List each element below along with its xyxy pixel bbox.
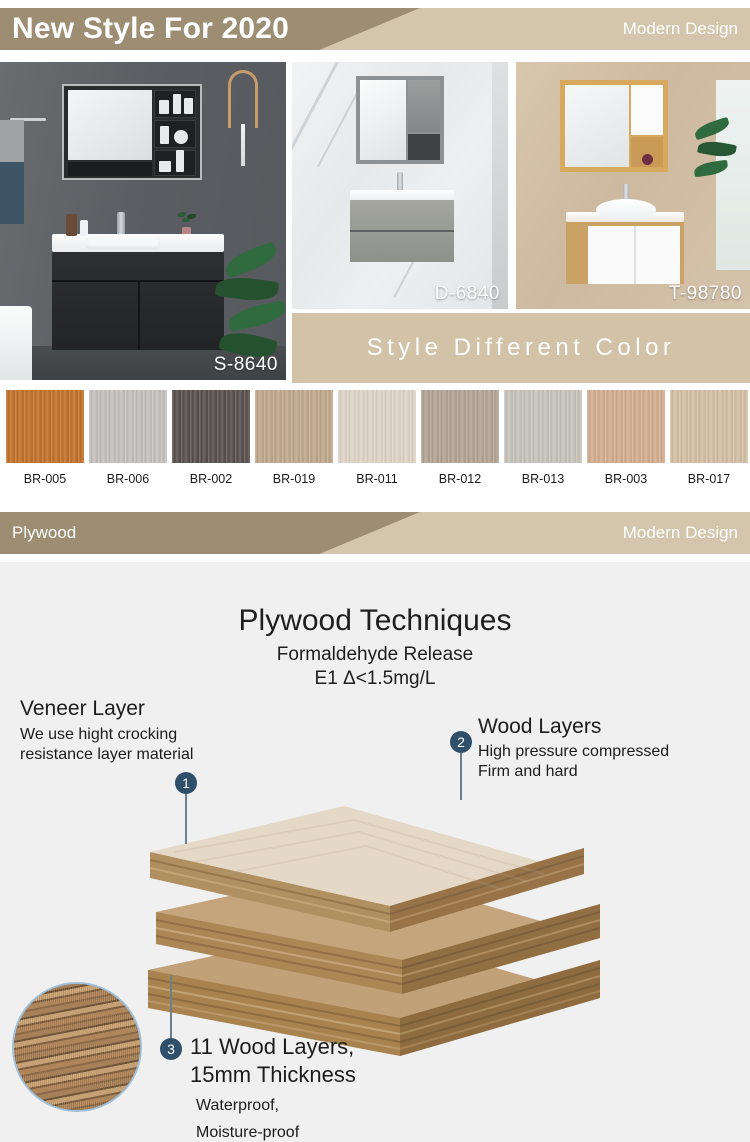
callout-2-badge: 2 <box>450 731 472 753</box>
callout-2-title: Wood Layers <box>478 715 669 739</box>
swatch-label: BR-017 <box>670 472 748 486</box>
cabinet-niche <box>408 134 440 160</box>
product-photo-s8640[interactable]: S-8640 <box>0 62 286 380</box>
swatch-chip[interactable] <box>255 390 333 463</box>
shelf-top <box>154 90 196 118</box>
swatch-label: BR-013 <box>504 472 582 486</box>
mirror-cabinet <box>356 76 444 164</box>
mirror-cabinet <box>560 80 668 172</box>
swatch-cell[interactable]: BR-002 <box>172 390 250 486</box>
swatch-cell[interactable]: BR-017 <box>670 390 748 486</box>
mirror-ledge <box>68 162 152 176</box>
callout-3-leader-line <box>170 975 172 1038</box>
swatch-label: BR-012 <box>421 472 499 486</box>
swatch-cell[interactable]: BR-011 <box>338 390 416 486</box>
top-banner-title: New Style For 2020 <box>12 12 289 46</box>
callout-1-line-2: resistance layer material <box>20 745 193 765</box>
swatch-chip[interactable] <box>587 390 665 463</box>
swatch-chip[interactable] <box>338 390 416 463</box>
bottle <box>160 126 169 144</box>
vanity-drawers <box>350 200 454 262</box>
swatch-cell[interactable]: BR-013 <box>504 390 582 486</box>
product-code-label: D-6840 <box>435 283 500 305</box>
product-photo-t98780[interactable]: T-98780 <box>516 62 750 309</box>
shelf-bottom <box>154 150 196 176</box>
callout-2-line-2: Firm and hard <box>478 762 669 782</box>
soap-dispenser <box>66 214 77 236</box>
callout-veneer-layer: Veneer Layer We use hight crocking resis… <box>20 697 193 765</box>
vanity-cabinet <box>52 252 224 350</box>
plywood-stack-illustration <box>140 806 640 1071</box>
mirror <box>68 90 152 160</box>
color-swatch-row: BR-005BR-006BR-002BR-019BR-011BR-012BR-0… <box>0 390 750 490</box>
callout-wood-layers: Wood Layers High pressure compressed Fir… <box>478 715 669 782</box>
faucet <box>397 172 403 192</box>
board-shape <box>144 806 584 932</box>
pendant-light-tube <box>241 124 245 166</box>
swatch-cell[interactable]: BR-019 <box>255 390 333 486</box>
decor-vase <box>642 154 653 165</box>
swatch-cell[interactable]: BR-006 <box>89 390 167 486</box>
product-code-label: T-98780 <box>669 283 742 305</box>
plywood-banner-tagline: Modern Design <box>623 523 738 543</box>
swatch-label: BR-003 <box>587 472 665 486</box>
swatch-label: BR-005 <box>6 472 84 486</box>
style-different-color-banner: Style Different Color <box>292 313 750 383</box>
cabinet-doors <box>588 226 680 284</box>
shelf-middle <box>154 120 196 148</box>
callout-1-leader-line <box>185 794 187 844</box>
wood-fiber-texture <box>14 984 140 1110</box>
style-banner-text: Style Different Color <box>367 334 676 362</box>
bottle <box>184 98 193 114</box>
bottle <box>173 94 181 114</box>
swatch-cell[interactable]: BR-003 <box>587 390 665 486</box>
countertop-basin <box>350 190 454 200</box>
bottle <box>176 150 184 172</box>
pendant-light-frame <box>228 70 258 128</box>
mirror <box>360 80 406 160</box>
jar <box>174 130 188 144</box>
wall-edge <box>492 62 508 309</box>
plywood-subtitle-1: Formaldehyde Release <box>0 644 750 666</box>
plywood-board-top <box>144 806 584 932</box>
lotion-bottle <box>80 220 88 236</box>
swatch-chip[interactable] <box>172 390 250 463</box>
basin <box>86 238 160 249</box>
plywood-banner-title: Plywood <box>12 523 76 543</box>
top-banner-tagline: Modern Design <box>623 19 738 39</box>
plywood-title: Plywood Techniques <box>0 604 750 638</box>
vanity-cabinet <box>566 222 684 284</box>
swatch-label: BR-011 <box>338 472 416 486</box>
product-photo-d6840[interactable]: D-6840 <box>292 62 508 309</box>
callout-3-line-1: Waterproof, <box>196 1096 356 1116</box>
callout-1-line-1: We use hight crocking <box>20 725 193 745</box>
callout-3-title: 11 Wood Layers, 15mm Thickness <box>190 1033 356 1089</box>
swatch-chip[interactable] <box>504 390 582 463</box>
product-code-label: S-8640 <box>214 354 278 376</box>
swatch-label: BR-019 <box>255 472 333 486</box>
swatch-chip[interactable] <box>6 390 84 463</box>
plywood-magnified-inset <box>12 982 142 1112</box>
swatch-label: BR-002 <box>172 472 250 486</box>
bottle <box>159 100 169 114</box>
box <box>159 161 171 172</box>
callout-1-title: Veneer Layer <box>20 697 193 721</box>
cabinet-wood-panel <box>408 80 440 132</box>
callout-1-badge: 1 <box>175 772 197 794</box>
plywood-subtitle-2: E1 Δ<1.5mg/L <box>0 668 750 690</box>
plywood-banner: Plywood Modern Design <box>0 512 750 554</box>
callout-2-line-1: High pressure compressed <box>478 742 669 762</box>
swatch-chip[interactable] <box>421 390 499 463</box>
swatch-label: BR-006 <box>89 472 167 486</box>
product-detail-page: New Style For 2020 Modern Design <box>0 0 750 1142</box>
toilet <box>0 306 32 380</box>
swatch-chip[interactable] <box>670 390 748 463</box>
top-banner: New Style For 2020 Modern Design <box>0 8 750 50</box>
swatch-chip[interactable] <box>89 390 167 463</box>
vessel-sink <box>596 199 656 221</box>
callout-2-leader-line <box>460 753 462 800</box>
callout-wood-layer-count: 11 Wood Layers, 15mm Thickness Waterproo… <box>190 1033 356 1142</box>
potted-plant <box>694 118 740 188</box>
callout-3-badge: 3 <box>160 1038 182 1060</box>
cabinet-white-door <box>631 85 663 135</box>
mirror-cabinet <box>62 84 202 180</box>
callout-3-line-2: Moisture-proof <box>196 1123 356 1142</box>
swatch-cell[interactable]: BR-012 <box>421 390 499 486</box>
towel-blue <box>0 162 24 224</box>
swatch-cell[interactable]: BR-005 <box>6 390 84 486</box>
cabinet-niche <box>631 137 663 167</box>
mirror <box>565 85 629 167</box>
